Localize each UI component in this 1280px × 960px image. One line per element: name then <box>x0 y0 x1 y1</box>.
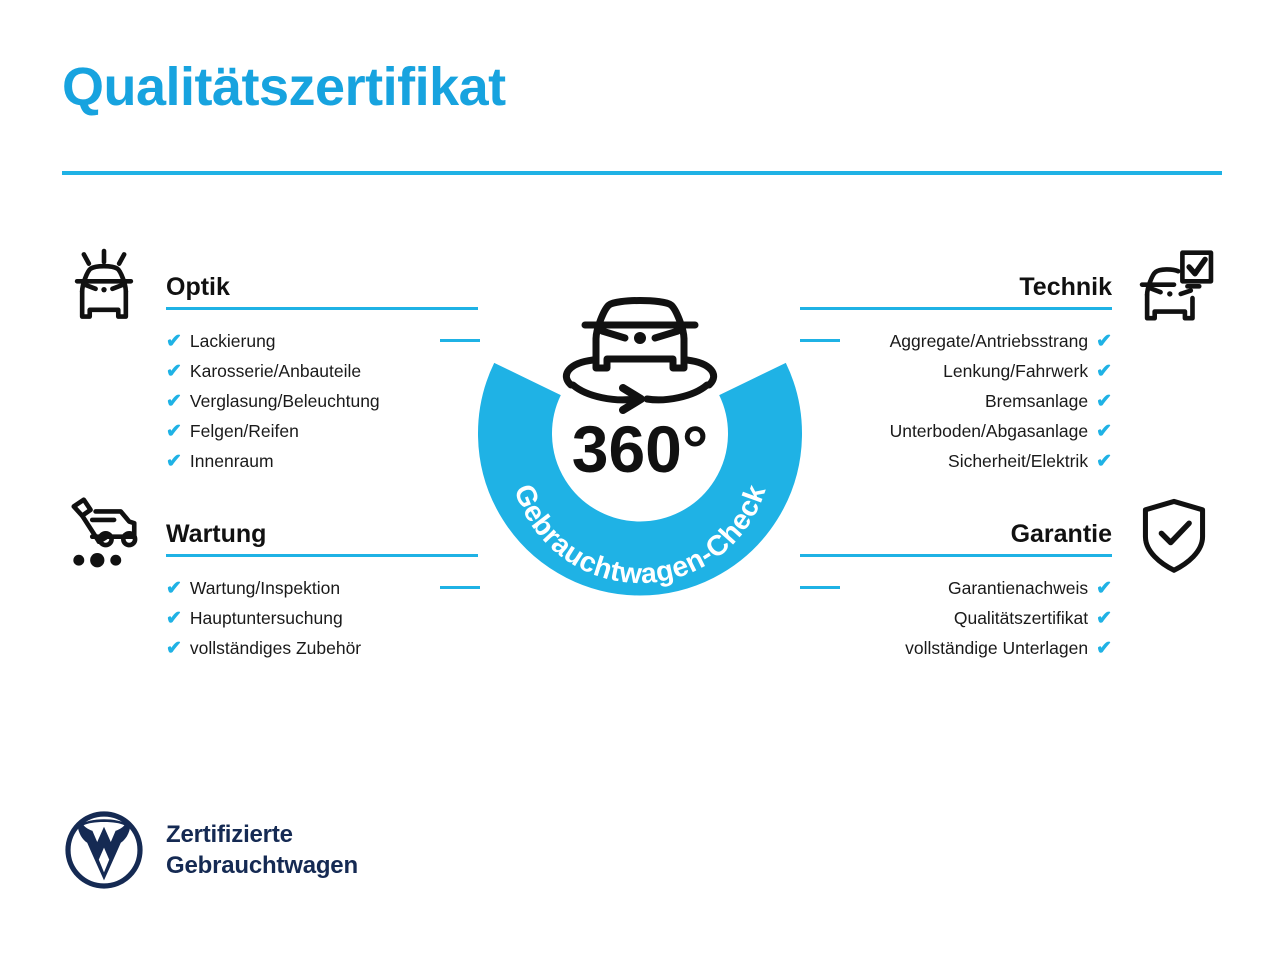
list-item: ✔Lackierung <box>62 326 478 356</box>
section-rule-optik <box>166 307 478 310</box>
section-title-garantie: Garantie <box>1011 522 1112 547</box>
header-divider <box>62 171 1222 175</box>
car-shine-icon <box>62 246 146 330</box>
section-rule-garantie <box>800 554 1112 557</box>
list-item-label: Lackierung <box>190 326 276 356</box>
check-icon: ✔ <box>166 422 182 441</box>
list-item: Qualitätszertifikat✔ <box>800 603 1216 633</box>
check-list-optik: ✔Lackierung ✔Karosserie/Anbauteile ✔Verg… <box>62 326 478 476</box>
check-icon: ✔ <box>166 639 182 658</box>
section-title-optik: Optik <box>166 275 230 300</box>
list-item: Aggregate/Antriebsstrang✔ <box>800 326 1216 356</box>
check-list-wartung: ✔Wartung/Inspektion ✔Hauptuntersuchung ✔… <box>62 573 478 663</box>
list-item-label: Felgen/Reifen <box>190 416 299 446</box>
list-item-label: Wartung/Inspektion <box>190 573 340 603</box>
check-icon: ✔ <box>1096 579 1112 598</box>
footer-text: Zertifizierte Gebrauchtwagen <box>166 819 358 881</box>
section-header-technik: Technik <box>800 258 1216 322</box>
section-title-wartung: Wartung <box>166 522 266 547</box>
check-icon: ✔ <box>1096 609 1112 628</box>
check-icon: ✔ <box>1096 639 1112 658</box>
list-item: vollständige Unterlagen✔ <box>800 633 1216 663</box>
list-item: ✔Felgen/Reifen <box>62 416 478 446</box>
check-list-technik: Aggregate/Antriebsstrang✔ Lenkung/Fahrwe… <box>800 326 1216 476</box>
list-item-label: Lenkung/Fahrwerk <box>943 356 1088 386</box>
check-icon: ✔ <box>1096 452 1112 471</box>
check-icon: ✔ <box>166 452 182 471</box>
car-rotate-icon <box>566 301 713 411</box>
badge-360-gebrauchtwagen-check: 360° Gebrauchtwagen-Check <box>465 247 815 622</box>
shield-check-icon <box>1132 493 1216 577</box>
list-item-label: Qualitätszertifikat <box>954 603 1088 633</box>
check-icon: ✔ <box>1096 332 1112 351</box>
list-item: Lenkung/Fahrwerk✔ <box>800 356 1216 386</box>
section-wartung: Wartung ✔Wartung/Inspektion ✔Hauptunters… <box>62 505 478 663</box>
list-item: ✔Verglasung/Beleuchtung <box>62 386 478 416</box>
check-list-garantie: Garantienachweis✔ Qualitätszertifikat✔ v… <box>800 573 1216 663</box>
footer-brand: Zertifizierte Gebrauchtwagen <box>64 810 358 890</box>
list-item: Unterboden/Abgasanlage✔ <box>800 416 1216 446</box>
list-item: Sicherheit/Elektrik✔ <box>800 446 1216 476</box>
check-icon: ✔ <box>1096 422 1112 441</box>
list-item-label: vollständige Unterlagen <box>905 633 1088 663</box>
list-item: ✔Karosserie/Anbauteile <box>62 356 478 386</box>
list-item-label: Sicherheit/Elektrik <box>948 446 1088 476</box>
footer-line-1: Zertifizierte <box>166 821 293 848</box>
page-title: Qualitätszertifikat <box>62 58 506 117</box>
list-item: Garantienachweis✔ <box>800 573 1216 603</box>
section-header-garantie: Garantie <box>800 505 1216 569</box>
vw-logo <box>64 810 144 890</box>
section-header-wartung: Wartung <box>62 505 478 569</box>
footer-line-2: Gebrauchtwagen <box>166 852 358 879</box>
list-item-label: vollständiges Zubehör <box>190 633 361 663</box>
list-item: ✔Wartung/Inspektion <box>62 573 478 603</box>
list-item-label: Hauptuntersuchung <box>190 603 343 633</box>
car-checkbox-icon <box>1132 246 1216 330</box>
list-item-label: Verglasung/Beleuchtung <box>190 386 380 416</box>
list-item: ✔Hauptuntersuchung <box>62 603 478 633</box>
check-icon: ✔ <box>166 392 182 411</box>
check-icon: ✔ <box>166 579 182 598</box>
list-item: Bremsanlage✔ <box>800 386 1216 416</box>
check-icon: ✔ <box>166 332 182 351</box>
list-item-label: Aggregate/Antriebsstrang <box>890 326 1088 356</box>
check-icon: ✔ <box>1096 362 1112 381</box>
list-item-label: Bremsanlage <box>985 386 1088 416</box>
list-item: ✔vollständiges Zubehör <box>62 633 478 663</box>
list-item-label: Karosserie/Anbauteile <box>190 356 361 386</box>
check-icon: ✔ <box>166 609 182 628</box>
badge-center-label: 360° <box>572 412 709 486</box>
section-rule-wartung <box>166 554 478 557</box>
list-item-label: Innenraum <box>190 446 274 476</box>
list-item-label: Unterboden/Abgasanlage <box>890 416 1089 446</box>
check-icon: ✔ <box>166 362 182 381</box>
section-technik: Technik Aggregate/Antriebsstrang✔ Lenkun… <box>800 258 1216 476</box>
car-service-wrench-icon <box>62 493 146 577</box>
section-rule-technik <box>800 307 1112 310</box>
list-item-label: Garantienachweis <box>948 573 1088 603</box>
list-item: ✔Innenraum <box>62 446 478 476</box>
section-optik: Optik ✔Lackierung ✔Karosserie/Anbauteile… <box>62 258 478 476</box>
section-garantie: Garantie Garantienachweis✔ Qualitätszert… <box>800 505 1216 663</box>
section-title-technik: Technik <box>1019 275 1112 300</box>
section-header-optik: Optik <box>62 258 478 322</box>
check-icon: ✔ <box>1096 392 1112 411</box>
